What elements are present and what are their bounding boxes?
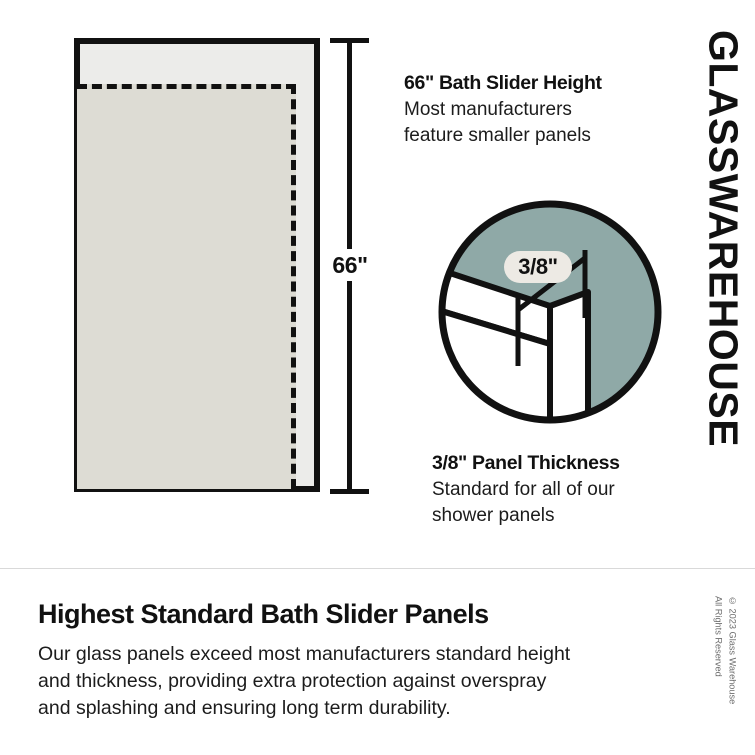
copyright-text: © 2023 Glass Warehouse All Rights Reserv… bbox=[711, 596, 740, 704]
copyright-line-2: All Rights Reserved bbox=[711, 596, 725, 704]
bath-slider-panel-figure bbox=[74, 38, 320, 492]
section-divider bbox=[0, 568, 755, 569]
copyright-block: © 2023 Glass Warehouse All Rights Reserv… bbox=[711, 596, 753, 731]
callout-body-thickness-line2: shower panels bbox=[432, 505, 555, 526]
footer-text-block: Highest Standard Bath Slider Panels Our … bbox=[38, 600, 660, 721]
callout-panel-thickness: 3/8" Panel Thickness Standard for all of… bbox=[404, 452, 674, 528]
callout-body-thickness: Standard for all of our shower panels bbox=[432, 477, 674, 527]
callout-title-height: 66" Bath Slider Height bbox=[404, 72, 674, 94]
height-dimension-badge: 66" bbox=[322, 249, 378, 281]
callout-body-thickness-line1: Standard for all of our bbox=[432, 479, 615, 500]
footer-body-line1: Our glass panels exceed most manufacture… bbox=[38, 643, 570, 665]
glass-edge-face bbox=[550, 292, 588, 432]
brand-wordmark: GLASSWAREHOUSE bbox=[695, 30, 751, 450]
callout-body-height-line2: feature smaller panels bbox=[404, 125, 591, 146]
callout-bath-slider-height: 66" Bath Slider Height Most manufacturer… bbox=[404, 72, 674, 148]
infographic-canvas: 66" 66" Bath Slider Height Most manufact… bbox=[0, 0, 755, 755]
footer-body-line2: and thickness, providing extra protectio… bbox=[38, 670, 546, 692]
callout-title-thickness: 3/8" Panel Thickness bbox=[432, 452, 674, 474]
smaller-panel-dashed-outline bbox=[77, 84, 296, 489]
copyright-line-1: © 2023 Glass Warehouse bbox=[725, 596, 739, 704]
panel-thickness-illustration bbox=[432, 196, 668, 432]
thickness-dimension-badge: 3/8" bbox=[504, 251, 572, 283]
footer-title: Highest Standard Bath Slider Panels bbox=[38, 600, 660, 630]
callout-body-height-line1: Most manufacturers bbox=[404, 99, 572, 120]
height-dimension-cap-bottom bbox=[330, 489, 369, 494]
height-dimension-cap-top bbox=[330, 38, 369, 43]
brand-wordmark-text: GLASSWAREHOUSE bbox=[703, 30, 744, 447]
callout-body-height: Most manufacturers feature smaller panel… bbox=[404, 97, 674, 147]
footer-body-line3: and splashing and ensuring long term dur… bbox=[38, 697, 451, 719]
footer-body: Our glass panels exceed most manufacture… bbox=[38, 641, 660, 722]
